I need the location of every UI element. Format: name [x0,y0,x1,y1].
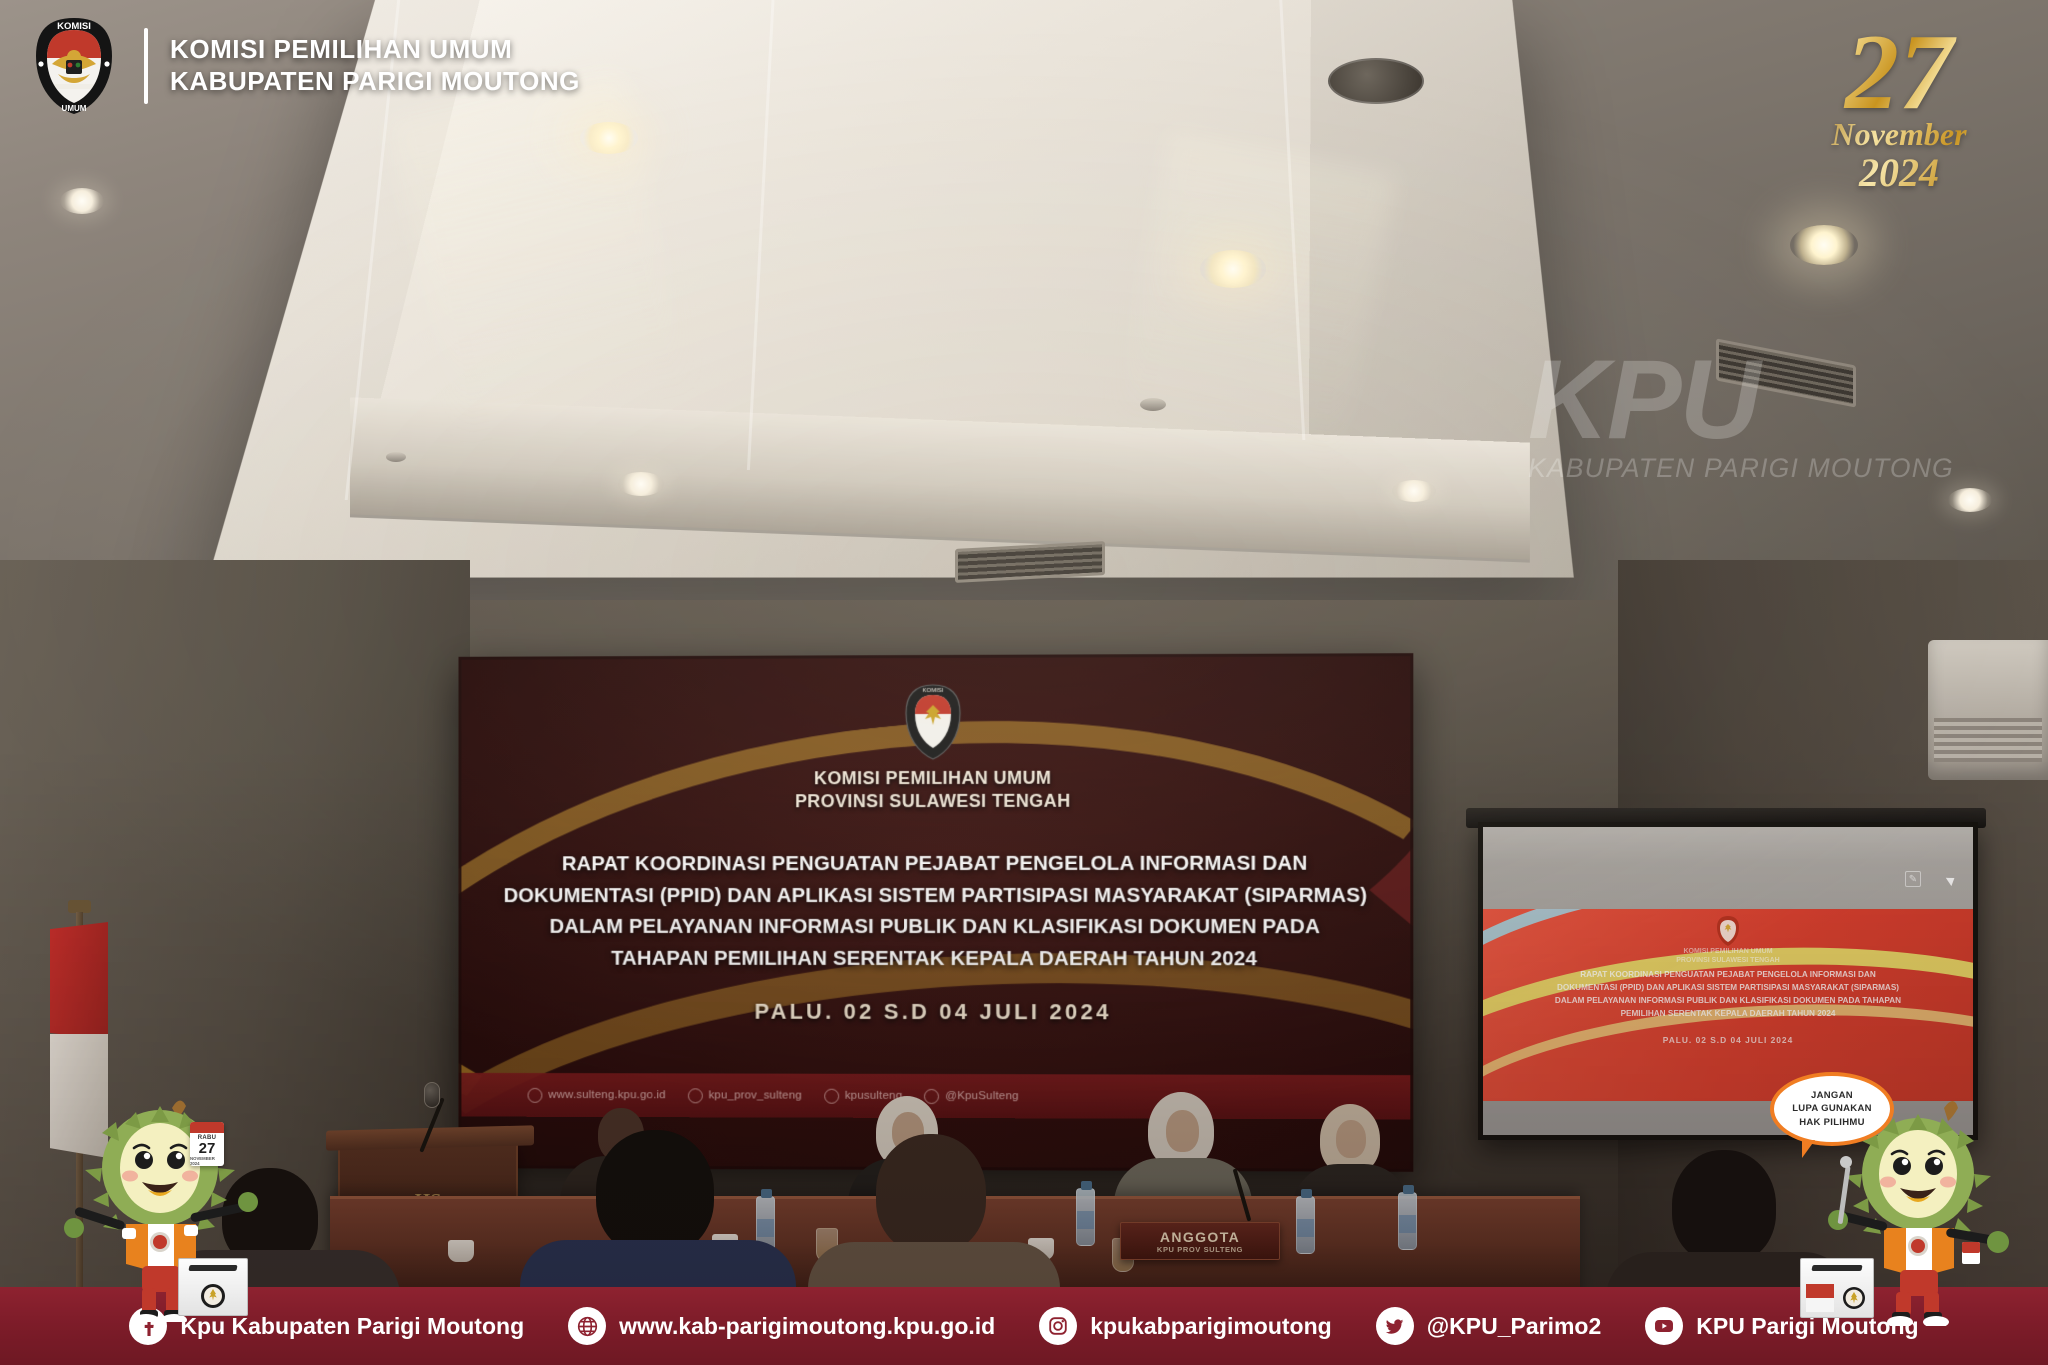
ceiling-downlight [1948,488,1992,512]
date-badge: 27 November 2024 [1794,22,2004,217]
ceiling-downlight [1200,250,1266,288]
footer-label-twitter: @KPU_Parimo2 [1427,1313,1602,1340]
water-bottle [1076,1188,1095,1246]
slide-date: PALU. 02 S.D 04 JULI 2024 [1483,1035,1973,1045]
footer-item-twitter[interactable]: @KPU_Parimo2 [1354,1307,1624,1345]
podium-microphone-icon [424,1082,440,1108]
youtube-icon [1645,1307,1683,1345]
water-bottle [1398,1192,1417,1250]
coffee-cup [448,1240,474,1262]
ballot-box-flag-icon [1800,1258,1874,1318]
panelist-head [1166,1110,1199,1152]
header-org-line2: KABUPATEN PARIGI MOUTONG [170,66,580,98]
calendar-month: NOVEMBER 2024 [190,1156,224,1166]
footer-label-website: www.kab-parigimoutong.kpu.go.id [619,1313,995,1340]
kpu-emblem-icon [1715,915,1741,947]
svg-text:KOMISI: KOMISI [57,21,91,32]
ceiling-downlight [1392,480,1436,502]
header-divider [144,28,148,104]
nameplate-title: ANGGOTA [1160,1229,1240,1245]
calendar-header [190,1122,224,1133]
banner-frame [458,653,1413,1172]
audience-head [1672,1150,1776,1264]
date-badge-day: 27 [1794,22,2004,124]
slide-org-line1: KOMISI PEMILIHAN UMUM [1483,947,1973,956]
pen-annotate-icon[interactable]: ✎ [1905,871,1921,887]
slide-title-line3: DALAM PELAYANAN INFORMASI PUBLIK DAN KLA… [1505,995,1951,1008]
date-badge-year: 2024 [1794,149,2004,196]
stage-backdrop-banner: KOMISI KOMISI PEMILIHAN UMUM PROVINSI SU… [458,653,1413,1172]
slide-title-line4: PEMILIHAN SERENTAK KEPALA DAERAH TAHUN 2… [1505,1008,1951,1021]
ceiling-downlight [618,472,664,496]
speech-line1: JANGAN [1811,1089,1853,1102]
header-org-line1: KOMISI PEMILIHAN UMUM [170,34,580,66]
twitter-icon [1376,1307,1414,1345]
ballot-box-left [178,1258,248,1316]
nameplate: ANGGOTA KPU PROV SULTENG [1120,1222,1280,1260]
conference-room-photo: KOMISI KOMISI PEMILIHAN UMUM PROVINSI SU… [0,0,2048,1365]
mascot-speech-bubble: JANGAN LUPA GUNAKAN HAK PILIHMU [1770,1072,1894,1146]
date-badge-month: November [1794,116,2004,153]
instagram-icon [1039,1307,1077,1345]
header-organization: KOMISI PEMILIHAN UMUM KABUPATEN PARIGI M… [170,34,580,97]
slide-organization: KOMISI PEMILIHAN UMUM PROVINSI SULAWESI … [1483,947,1973,965]
ballot-box-emblem-icon [178,1258,248,1316]
smoke-detector-icon [386,452,406,462]
footer-label-instagram: kpukabparigimoutong [1090,1313,1332,1340]
nameplate-subtitle: KPU PROV SULTENG [1157,1245,1243,1254]
ceiling-downlight [60,188,104,214]
bottle-label [1399,1215,1416,1233]
speech-line2: LUPA GUNAKAN [1792,1102,1872,1115]
svg-text:UMUM: UMUM [62,104,87,113]
slide-title-line1: RAPAT KOORDINASI PENGUATAN PEJABAT PENGE… [1505,969,1951,982]
projected-slide: KOMISI PEMILIHAN UMUM PROVINSI SULAWESI … [1483,909,1973,1101]
water-bottle [1296,1196,1315,1254]
smoke-detector-icon [1140,398,1166,411]
globe-icon [568,1307,606,1345]
footer-item-instagram[interactable]: kpukabparigimoutong [1017,1307,1354,1345]
slide-title-line2: DOKUMENTASI (PPID) DAN APLIKASI SISTEM P… [1505,982,1951,995]
indonesia-flag-red [50,922,108,1040]
kpu-garuda-logo: KOMISI UMUM [28,16,120,116]
footer-item-website[interactable]: www.kab-parigimoutong.kpu.go.id [546,1307,1017,1345]
audience-head [596,1130,714,1256]
poster-canvas: KOMISI KOMISI PEMILIHAN UMUM PROVINSI SU… [0,0,2048,1365]
ceiling-downlight [1790,225,1858,265]
mouse-cursor-icon [1946,874,1957,886]
slide-title: RAPAT KOORDINASI PENGUATAN PEJABAT PENGE… [1505,969,1951,1021]
speech-line3: HAK PILIHMU [1799,1116,1865,1129]
mascot-calendar-card: RABU 27 NOVEMBER 2024 [190,1122,224,1166]
calendar-date: 27 [199,1141,216,1156]
header-bar: KOMISI UMUM KOMISI PEMILIHAN UMUM KABUPA… [0,0,2048,132]
audience-head [876,1134,986,1254]
ballot-box-right [1800,1258,1874,1318]
bottle-label [1297,1219,1314,1237]
wall-ac-unit [1928,640,2048,780]
slide-org-line2: PROVINSI SULAWESI TENGAH [1483,956,1973,965]
bottle-label [757,1219,774,1237]
bottle-label [1077,1211,1094,1229]
panelist-head [1336,1120,1366,1158]
footer-bar: Kpu Kabupaten Parigi Moutong www.kab-par… [0,1287,2048,1365]
